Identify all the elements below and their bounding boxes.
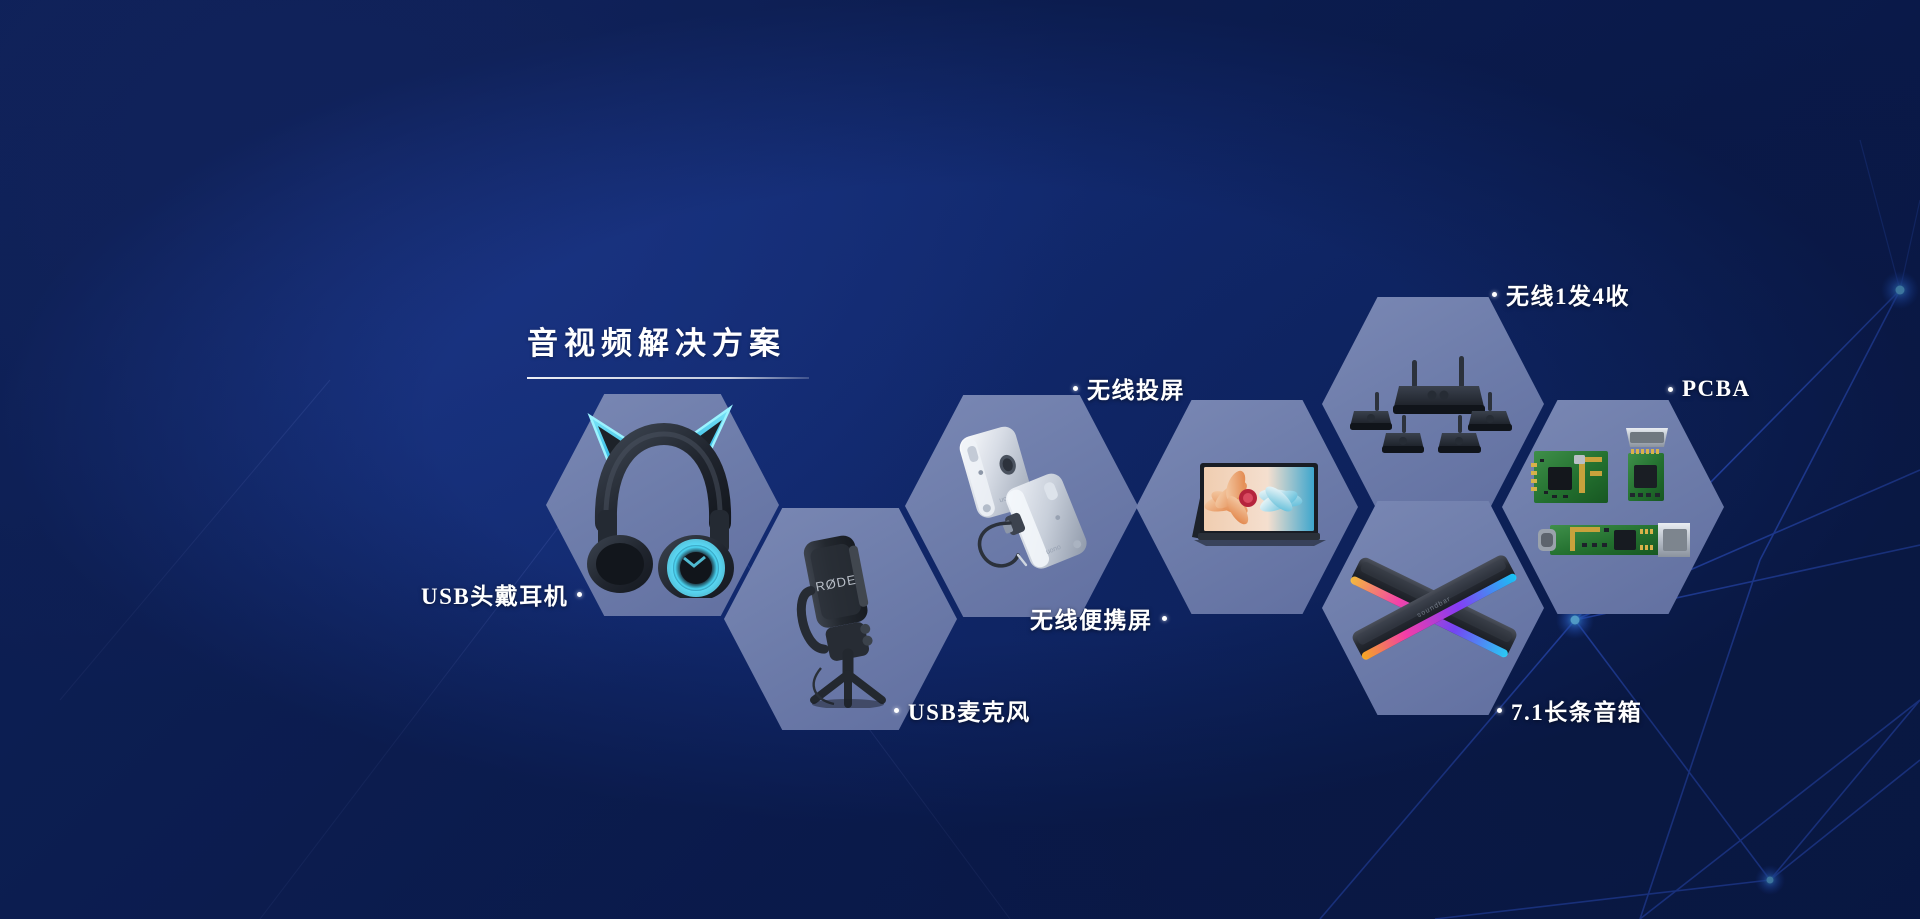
label-pcba[interactable]: PCBA xyxy=(1668,376,1751,402)
label-wireless-casting-text: 无线投屏 xyxy=(1087,371,1185,405)
page-title-block: 音视频解决方案 xyxy=(527,318,817,379)
label-wireless-1t4r[interactable]: 无线1发4收 xyxy=(1492,277,1630,311)
label-usb-microphone-text: USB麦克风 xyxy=(908,693,1031,727)
page-title-underline xyxy=(527,377,809,379)
label-pcba-text: PCBA xyxy=(1682,376,1751,402)
bullet-dot-icon xyxy=(1162,616,1167,621)
label-usb-headset[interactable]: USB头戴耳机 xyxy=(421,577,582,611)
label-soundbar-7-1-text: 7.1长条音箱 xyxy=(1511,693,1642,727)
label-wireless-1t4r-text: 无线1发4收 xyxy=(1506,277,1630,311)
page-title: 音视频解决方案 xyxy=(527,318,817,363)
bullet-dot-icon xyxy=(577,592,582,597)
bullet-dot-icon xyxy=(1497,708,1502,713)
bullet-dot-icon xyxy=(1492,292,1497,297)
label-wireless-casting[interactable]: 无线投屏 xyxy=(1073,371,1185,405)
label-usb-microphone[interactable]: USB麦克风 xyxy=(894,693,1031,727)
bullet-dot-icon xyxy=(894,708,899,713)
label-usb-headset-text: USB头戴耳机 xyxy=(421,577,568,611)
label-soundbar-7-1[interactable]: 7.1长条音箱 xyxy=(1497,693,1642,727)
bullet-dot-icon xyxy=(1668,387,1673,392)
bullet-dot-icon xyxy=(1073,386,1078,391)
label-wireless-portable-screen[interactable]: 无线便携屏 xyxy=(1030,601,1167,635)
label-wireless-portable-screen-text: 无线便携屏 xyxy=(1030,601,1153,635)
